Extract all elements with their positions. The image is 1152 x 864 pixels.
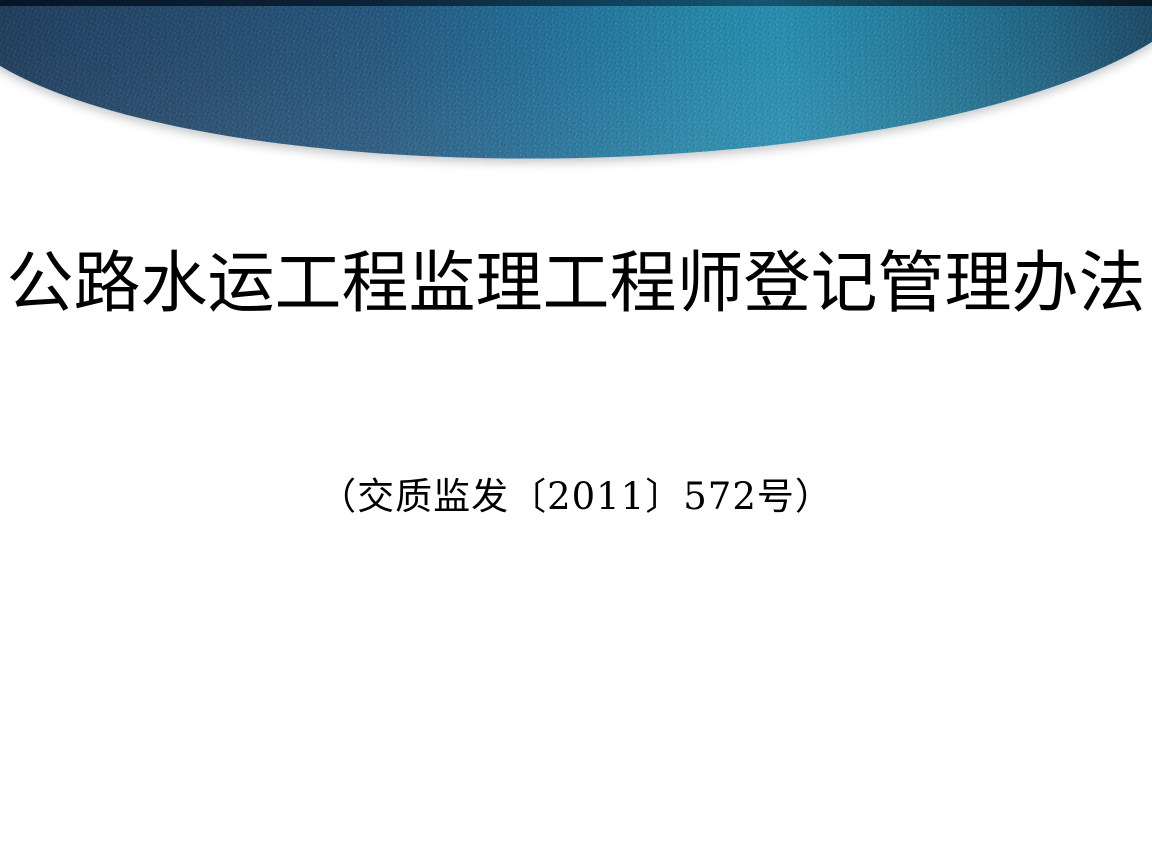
banner-vertical-shading bbox=[0, 0, 1152, 173]
slide-subtitle: （交质监发〔2011〕572号） bbox=[0, 470, 1152, 524]
banner-top-band bbox=[0, 0, 1152, 6]
slide-header-decoration bbox=[0, 0, 1152, 200]
banner-arch bbox=[0, 0, 1152, 173]
banner-texture-overlay bbox=[0, 0, 1152, 173]
slide-title: 公路水运工程监理工程师登记管理办法 bbox=[0, 237, 1152, 329]
presentation-slide: 公路水运工程监理工程师登记管理办法 （交质监发〔2011〕572号） bbox=[0, 0, 1152, 864]
banner-weave-overlay bbox=[0, 0, 1152, 173]
banner-drop-shadow bbox=[0, 0, 1152, 177]
